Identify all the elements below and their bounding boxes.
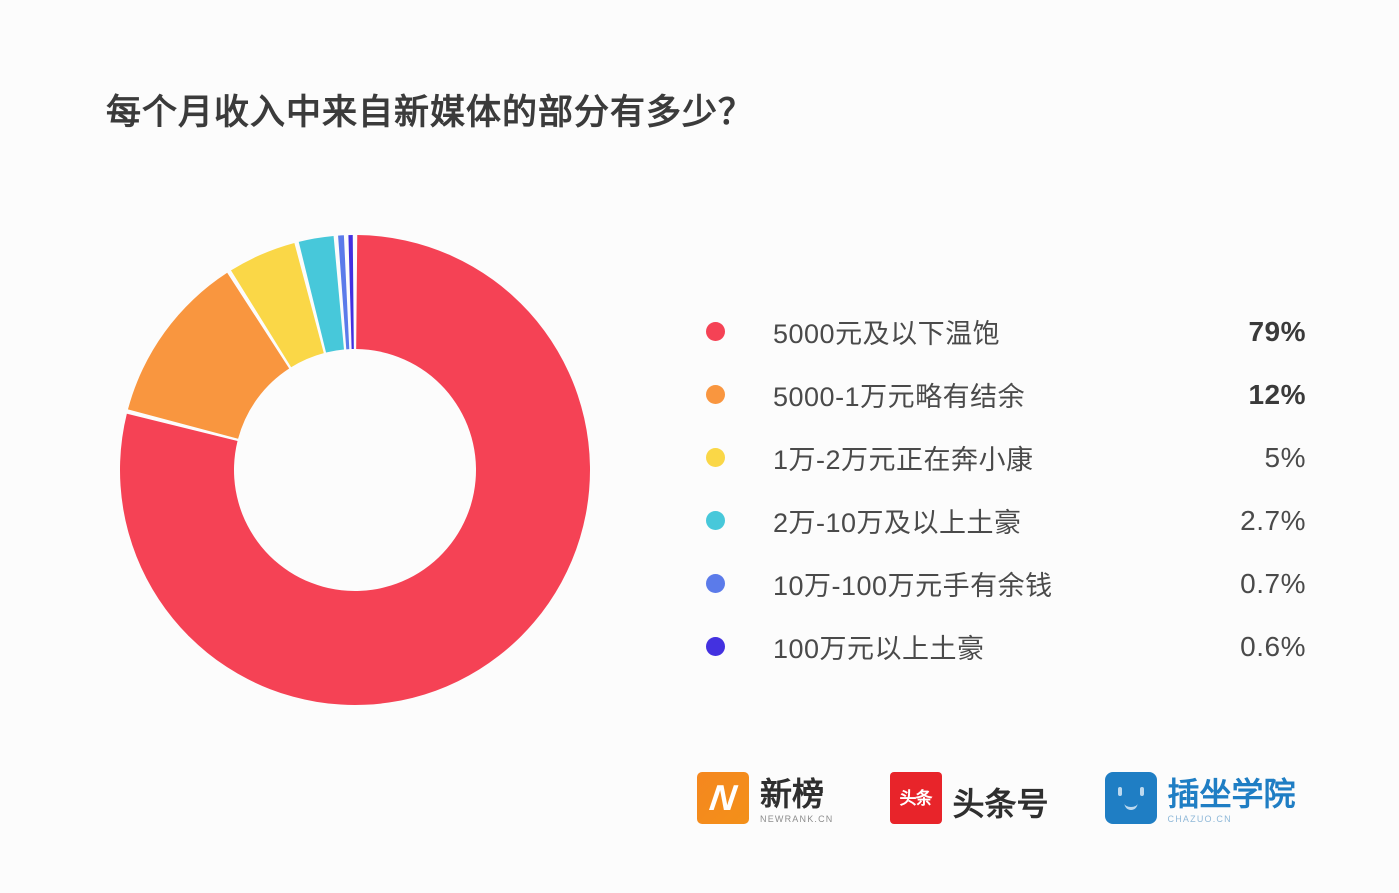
chazuo-text-block: 插坐学院 CHAZUO.CN (1168, 778, 1296, 824)
mouth (1124, 800, 1137, 810)
legend-item-label: 1万-2万元正在奔小康 (773, 438, 1034, 477)
legend-color-swatch-icon (706, 385, 725, 404)
legend-color-swatch-icon (706, 448, 725, 467)
logo-subtitle: CHAZUO.CN (1168, 814, 1296, 824)
eye-left (1118, 787, 1122, 796)
legend-item-value: 12% (1194, 379, 1306, 411)
logo-name: 头条号 (953, 788, 1049, 822)
logo-toutiaohao[interactable]: 头条 头条号 (890, 772, 1049, 824)
legend-item-label: 10万-100万元手有余钱 (773, 564, 1053, 603)
chazuo-mark-icon (1105, 772, 1157, 824)
toutiao-glyph: 头条 (900, 790, 932, 807)
legend-item[interactable]: 1万-2万元正在奔小康 5% (706, 426, 1306, 489)
toutiao-text-block: 头条号 (953, 788, 1049, 824)
logo-newrank[interactable]: N 新榜 NEWRANK.CN (697, 772, 834, 824)
logo-chazuo[interactable]: 插坐学院 CHAZUO.CN (1105, 772, 1296, 824)
legend-item-label: 100万元以上土豪 (773, 627, 985, 666)
donut-slice-group (120, 235, 590, 705)
legend-item-value: 2.7% (1194, 505, 1306, 537)
page-title: 每个月收入中来自新媒体的部分有多少？ (106, 84, 754, 135)
logo-name: 插坐学院 (1168, 778, 1296, 812)
legend-item-label: 5000元及以下温饱 (773, 312, 1000, 351)
legend-item-value: 79% (1194, 316, 1306, 348)
newrank-mark-icon: N (697, 772, 749, 824)
newrank-n-glyph: N (707, 780, 738, 816)
donut-chart (118, 233, 592, 707)
legend-item-value: 0.7% (1194, 568, 1306, 600)
chart-legend: 5000元及以下温饱 79% 5000-1万元略有结余 12% 1万-2万元正在… (706, 300, 1306, 678)
smiley-face-icon (1114, 785, 1148, 811)
legend-item[interactable]: 5000-1万元略有结余 12% (706, 363, 1306, 426)
donut-chart-svg (118, 233, 592, 707)
footer-logo-bar: N 新榜 NEWRANK.CN 头条 头条号 插坐学院 CHAZUO.CN (697, 772, 1296, 824)
legend-item[interactable]: 10万-100万元手有余钱 0.7% (706, 552, 1306, 615)
legend-item[interactable]: 2万-10万及以上土豪 2.7% (706, 489, 1306, 552)
legend-item-label: 5000-1万元略有结余 (773, 375, 1025, 414)
logo-name: 新榜 (760, 778, 834, 812)
legend-item-value: 0.6% (1194, 631, 1306, 663)
eye-right (1140, 787, 1144, 796)
legend-item[interactable]: 5000元及以下温饱 79% (706, 300, 1306, 363)
legend-item-label: 2万-10万及以上土豪 (773, 501, 1022, 540)
donut-slice[interactable] (348, 235, 353, 349)
logo-subtitle: NEWRANK.CN (760, 814, 834, 824)
legend-color-swatch-icon (706, 637, 725, 656)
legend-item[interactable]: 100万元以上土豪 0.6% (706, 615, 1306, 678)
legend-color-swatch-icon (706, 511, 725, 530)
toutiao-mark-icon: 头条 (890, 772, 942, 824)
newrank-text-block: 新榜 NEWRANK.CN (760, 778, 834, 824)
legend-color-swatch-icon (706, 574, 725, 593)
legend-item-value: 5% (1194, 442, 1306, 474)
legend-color-swatch-icon (706, 322, 725, 341)
